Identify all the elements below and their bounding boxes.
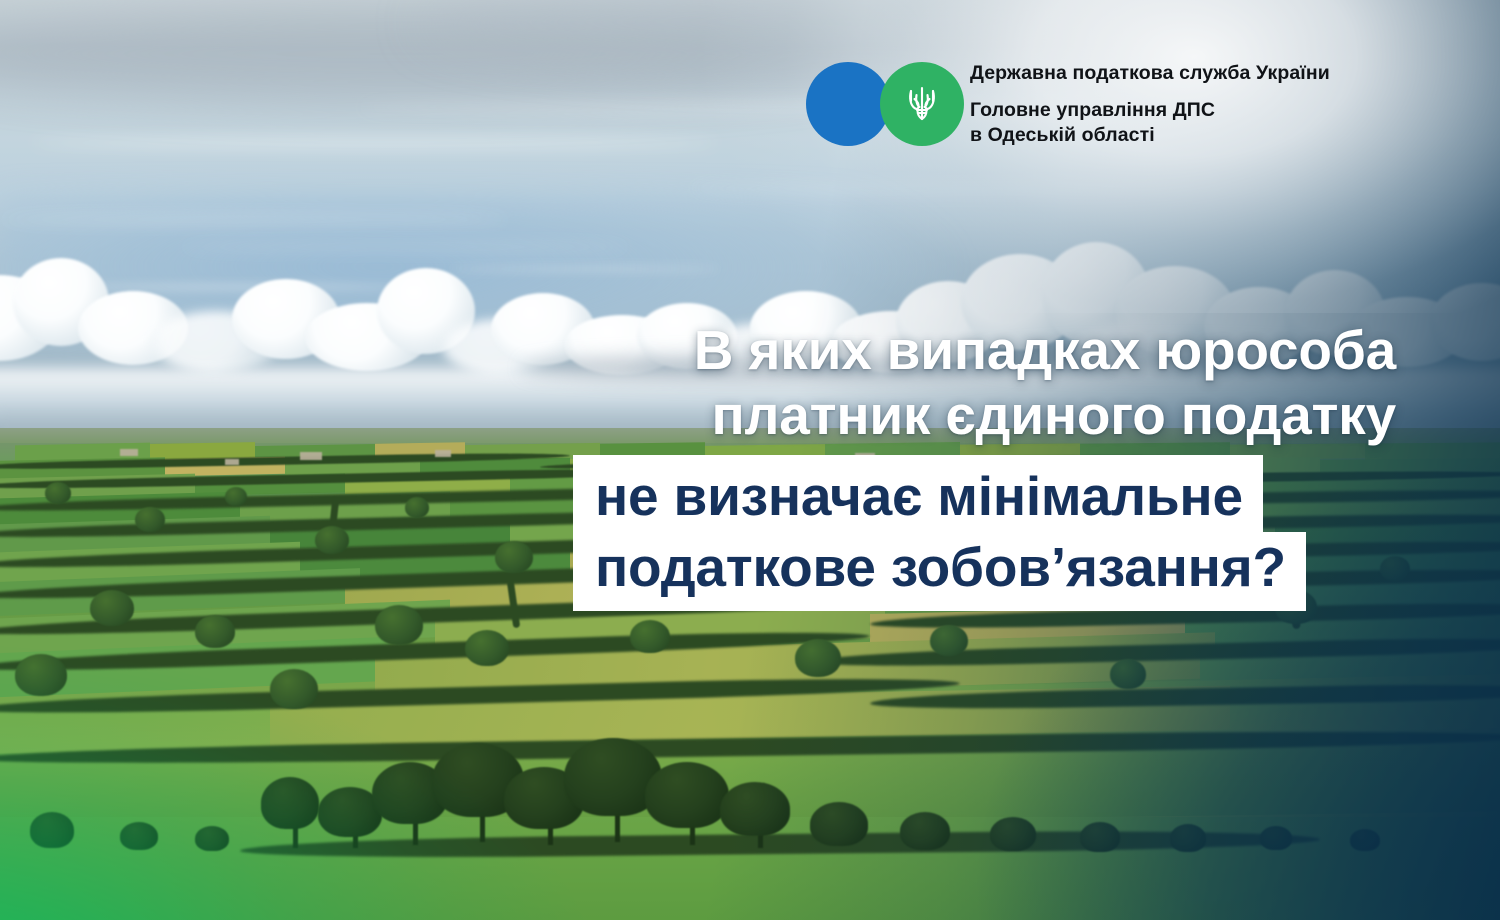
brand-department-name: Головне управління ДПС в Одеській област…: [970, 98, 1330, 148]
brand-logo-lockup: Державна податкова служба України Головн…: [806, 62, 1330, 148]
brand-organization-name: Державна податкова служба України: [970, 62, 1330, 84]
logo-backdrop-glow: [690, 0, 1500, 313]
blue-circle-icon: [806, 62, 890, 146]
logo-marks: [806, 62, 956, 148]
poster-canvas: Державна податкова служба України Головн…: [0, 0, 1500, 920]
brand-department-line-2: в Одеській області: [970, 124, 1155, 146]
headline-highlight-block: не визначає мінімальне податкове зобов’я…: [573, 455, 1306, 611]
brand-department-line-1: Головне управління ДПС: [970, 99, 1215, 121]
brand-text-block: Державна податкова служба України Головн…: [970, 62, 1330, 147]
headline-line-2: платник єдиного податку: [0, 383, 1396, 448]
headline-plain-block: В яких випадках юрособа платник єдиного …: [0, 318, 1500, 449]
headline-highlight-line-2: податкове зобов’язання?: [573, 532, 1306, 611]
ukraine-trident-icon: [906, 84, 938, 126]
headline-line-1: В яких випадках юрособа: [0, 318, 1396, 383]
headline-highlight-line-1: не визначає мінімальне: [573, 455, 1263, 532]
